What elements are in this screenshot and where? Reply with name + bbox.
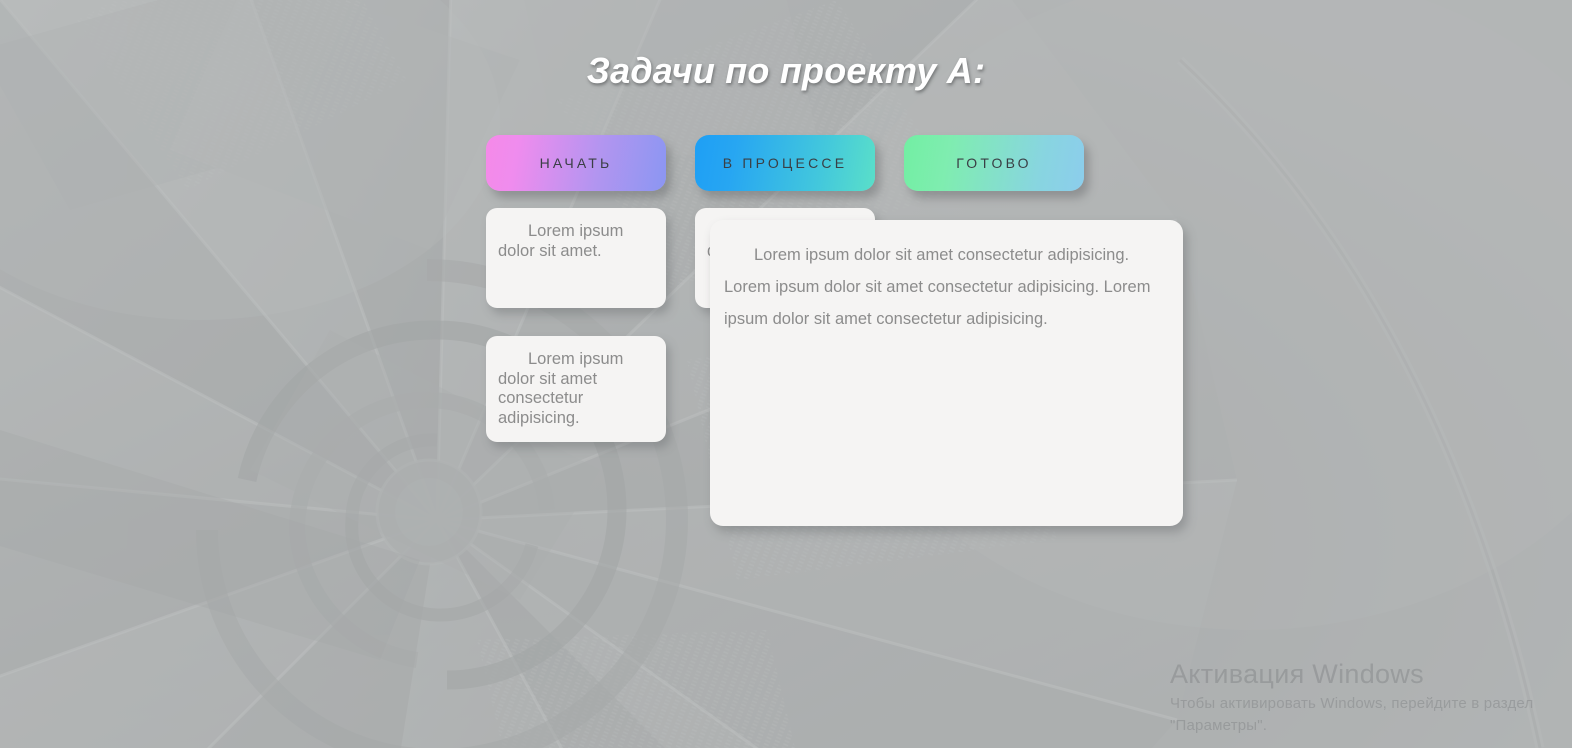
board-column-done: ГОТОВО bbox=[904, 135, 1084, 191]
task-card[interactable]: Lorem ipsum dolor sit amet consectetur a… bbox=[486, 336, 666, 442]
page-title: Задачи по проекту А: bbox=[0, 50, 1572, 92]
column-button-done[interactable]: ГОТОВО bbox=[904, 135, 1084, 191]
windows-activation-subtitle: Чтобы активировать Windows, перейдите в … bbox=[1170, 693, 1560, 737]
task-card[interactable]: Lorem ipsum dolor sit amet. bbox=[486, 208, 666, 308]
windows-activation-title: Активация Windows bbox=[1170, 658, 1560, 690]
task-card[interactable]: Lorem ipsum dolor sit amet consectetur a… bbox=[710, 220, 1183, 526]
column-button-progress[interactable]: В ПРОЦЕССЕ bbox=[695, 135, 875, 191]
page-root: Задачи по проекту А: НАЧАТЬ Lorem ipsum … bbox=[0, 0, 1572, 748]
card-stack-start: Lorem ipsum dolor sit amet. Lorem ipsum … bbox=[486, 208, 666, 470]
column-button-start[interactable]: НАЧАТЬ bbox=[486, 135, 666, 191]
board-column-progress: В ПРОЦЕССЕ Lorem ipsum dolor sit. bbox=[695, 135, 875, 191]
windows-activation-watermark: Активация Windows Чтобы активировать Win… bbox=[1170, 658, 1560, 737]
board-column-start: НАЧАТЬ Lorem ipsum dolor sit amet. Lorem… bbox=[486, 135, 666, 191]
